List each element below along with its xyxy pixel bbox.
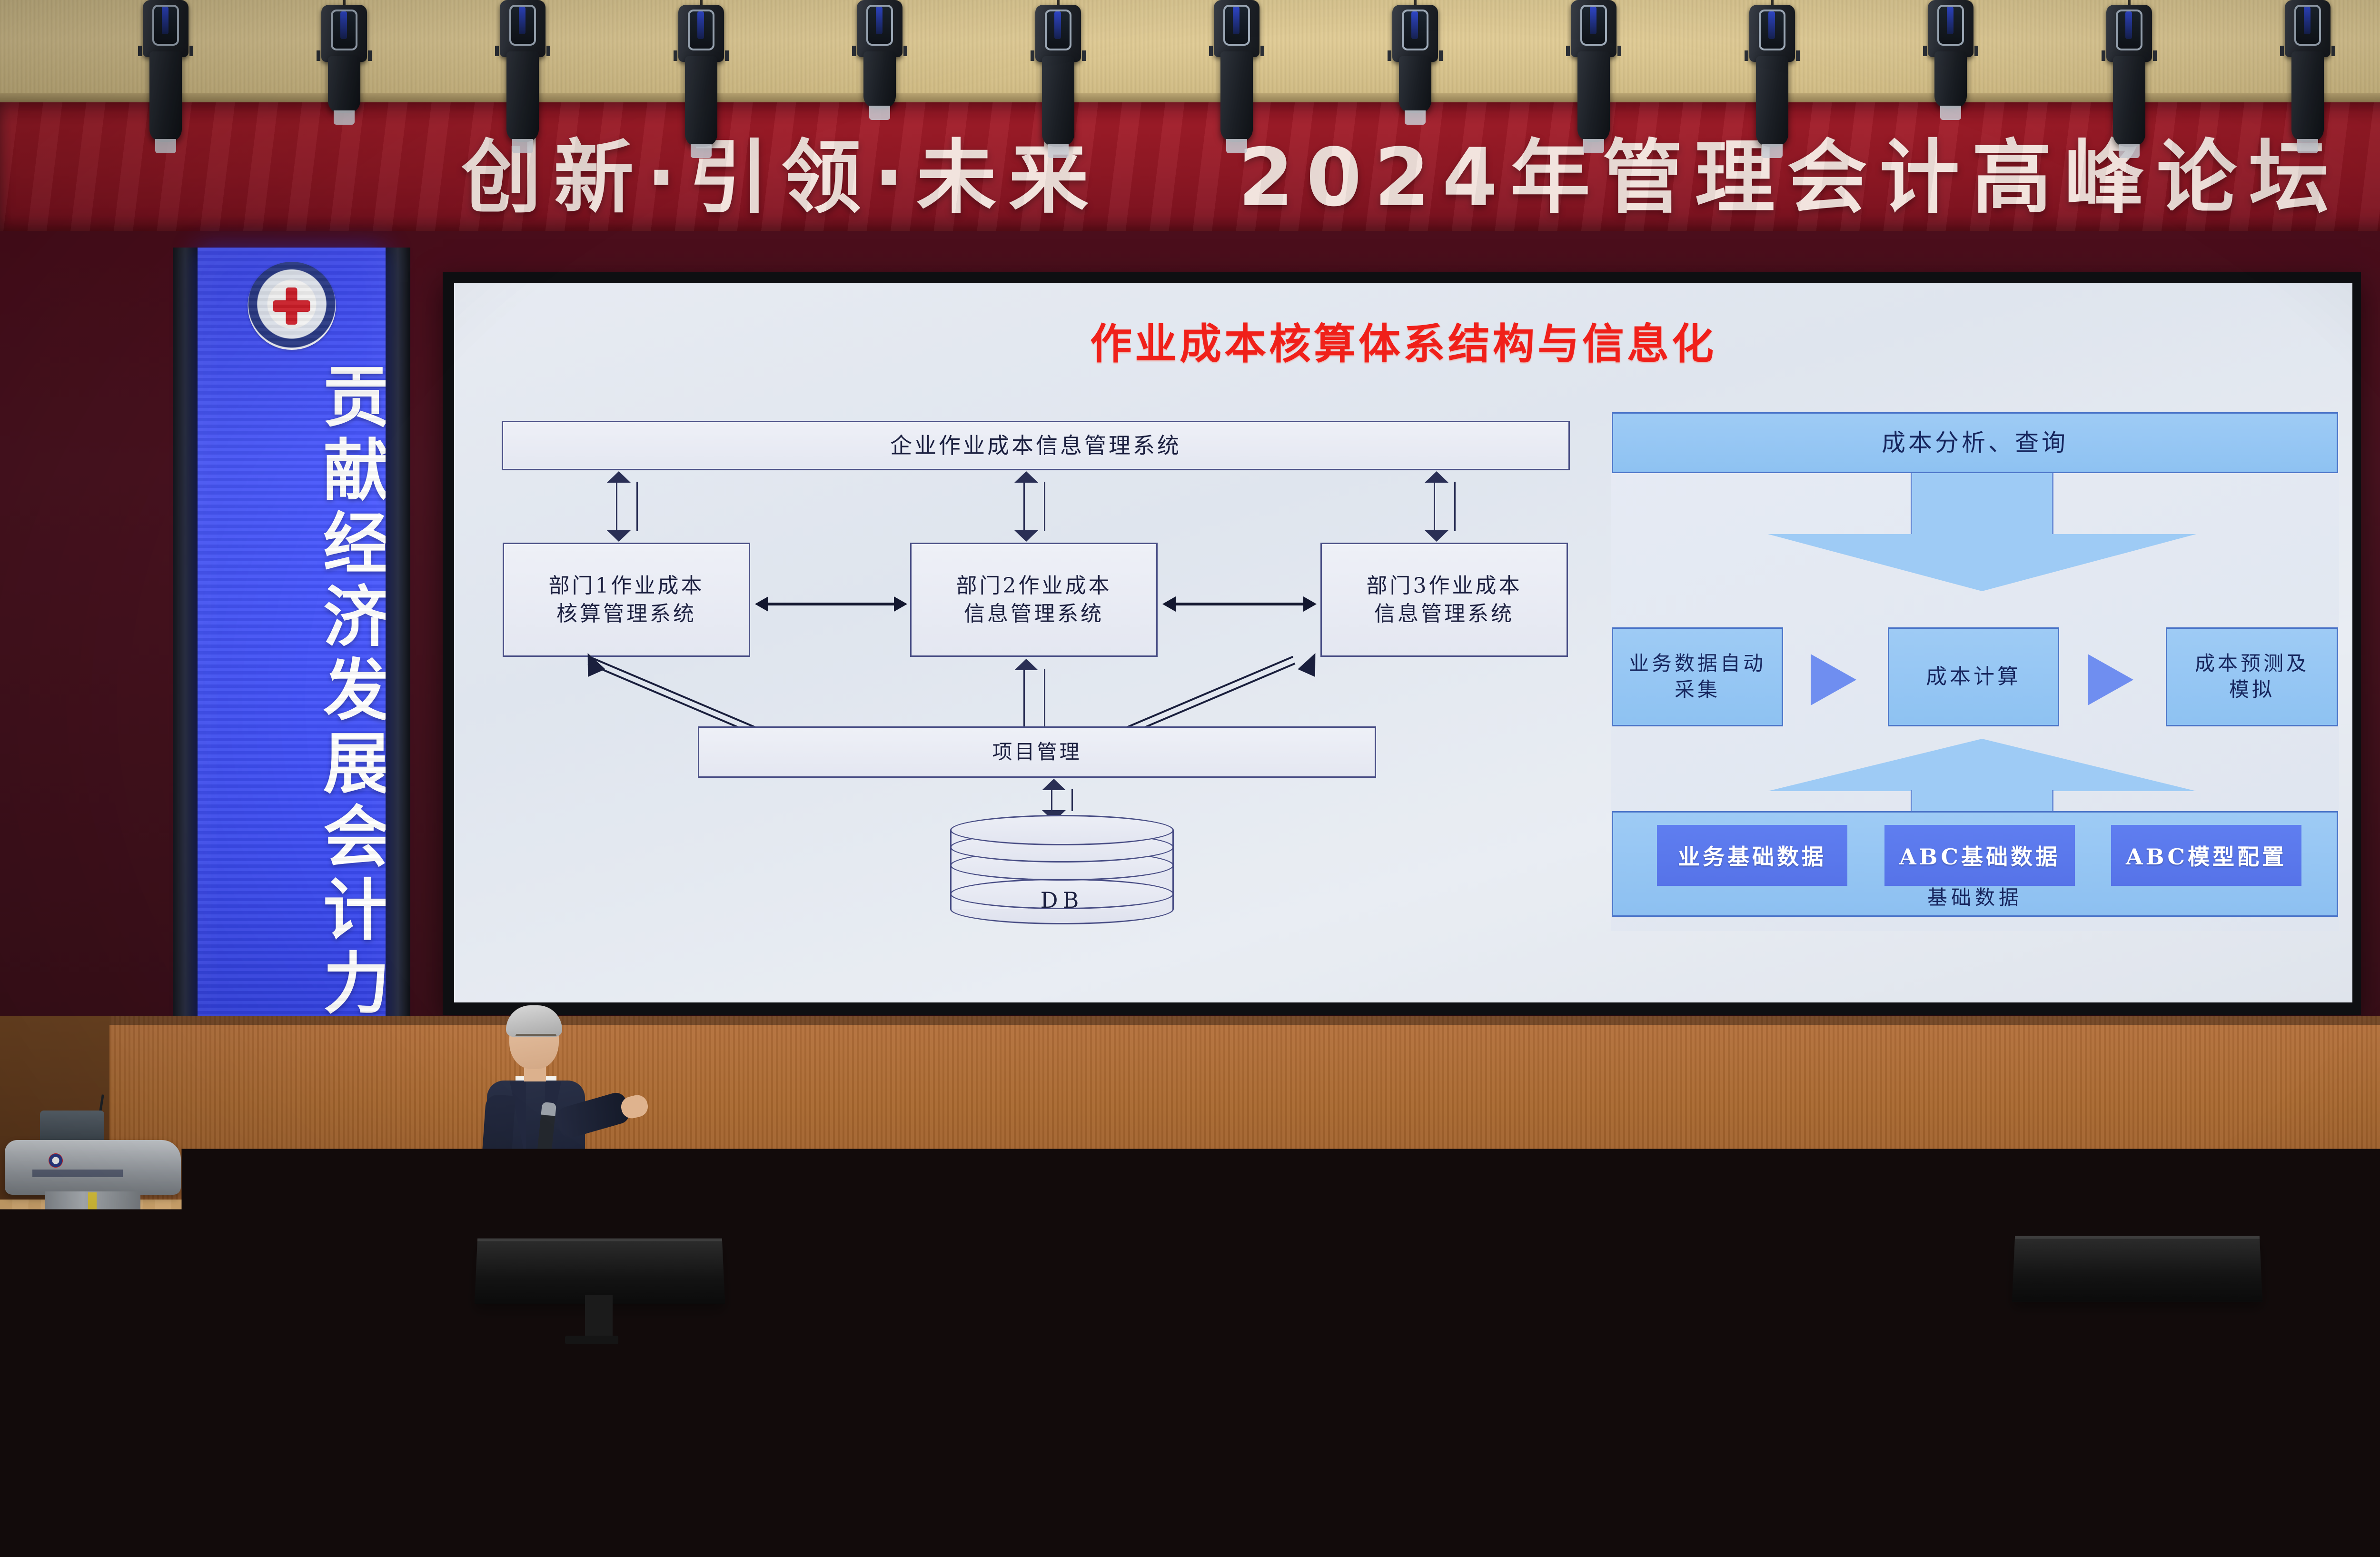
arrow-top-to-dept1 <box>616 482 638 531</box>
box-cost-analysis: 成本分析、查询 <box>1612 412 2338 473</box>
light-body <box>328 56 360 113</box>
node-dept1: 部门1作业成本 核算管理系统 <box>503 543 750 657</box>
node-dept2-label: 部门2作业成本 信息管理系统 <box>956 572 1112 628</box>
light-foot <box>155 139 176 153</box>
arrow-step1-to-step2 <box>1811 654 1856 705</box>
light-beam <box>340 11 347 39</box>
left-architecture-diagram: 企业作业成本信息管理系统 部门1作业成本 核算管理系统 部门2作业成本 信息管理… <box>498 421 1574 930</box>
monitor-legs <box>2102 1333 2156 1342</box>
banner-slogan: 创新·引领·未来 <box>461 131 1101 224</box>
emblem-cross-icon <box>273 288 310 325</box>
light-foot <box>2119 144 2140 158</box>
light-body <box>1042 56 1074 147</box>
monitor-mount <box>585 1295 613 1340</box>
floor-mat <box>80 1314 149 1342</box>
loudspeaker-icon <box>333 1304 433 1366</box>
light-beam <box>162 7 169 34</box>
stage-post-left-inner <box>386 248 410 1104</box>
db-top <box>950 815 1174 845</box>
banner-text-row: 创新·引领·未来 2024年管理会计高峰论坛 <box>0 113 2380 228</box>
box-cost-calculation: 成本计算 <box>1888 627 2059 726</box>
light-foot <box>869 106 890 120</box>
arrow-down-head <box>1768 534 2196 591</box>
light-foot <box>2297 139 2318 153</box>
arrow-pm-to-dept1-a <box>589 656 765 732</box>
audience-area <box>0 1399 2380 1557</box>
arrow-top-to-dept3 <box>1434 482 1456 531</box>
light-foot <box>1048 144 1069 158</box>
box-cost-calculation-label: 成本计算 <box>1926 663 2021 690</box>
light-body <box>1934 51 1967 109</box>
light-foot <box>1226 139 1247 153</box>
light-beam <box>2125 11 2132 39</box>
loudspeaker-icon <box>1695 1307 1790 1365</box>
left-banner-text: 贡献经济发展会计力量 <box>198 362 386 1095</box>
light-foot <box>1762 144 1783 158</box>
presenter-hair <box>506 1005 562 1037</box>
light-body <box>685 56 717 147</box>
light-beam <box>876 7 883 34</box>
light-beam <box>1768 11 1775 39</box>
light-foot <box>334 110 355 125</box>
slide-title: 作业成本核算体系结构与信息化 <box>454 310 2352 371</box>
arrow-pm-to-db <box>1051 789 1073 811</box>
light-body <box>863 51 896 109</box>
arrow-top-to-dept2 <box>1023 482 1045 531</box>
box-data-collection: 业务数据自动 采集 <box>1612 627 1783 726</box>
podium-icon <box>5 1097 181 1345</box>
podium-institution-name <box>32 1170 123 1177</box>
light-foot <box>512 139 533 153</box>
box-data-collection-label: 业务数据自动 采集 <box>1629 651 1766 703</box>
university-emblem-icon <box>248 262 336 350</box>
projection-screen: 作业成本核算体系结构与信息化 企业作业成本信息管理系统 部门1作业成本 核算管理… <box>454 283 2352 1002</box>
arrow-dept1-dept2 <box>767 603 895 605</box>
light-body <box>1577 51 1610 142</box>
light-beam <box>1590 7 1597 34</box>
base-item-business-data: 业务基础数据 <box>1657 825 1847 886</box>
main-event-banner: 创新·引领·未来 2024年管理会计高峰论坛 <box>0 102 2380 231</box>
left-vertical-banner: 贡献经济发展会计力量 <box>198 248 386 1104</box>
light-body <box>149 51 182 142</box>
podium-desk <box>5 1140 181 1195</box>
light-beam <box>1233 7 1240 34</box>
node-dept3: 部门3作业成本 信息管理系统 <box>1320 543 1568 657</box>
banner-event-title: 2024年管理会计高峰论坛 <box>1238 131 2341 224</box>
monitor-legs <box>565 1336 618 1344</box>
arrow-up-large <box>1768 739 2196 815</box>
node-project-management: 项目管理 <box>698 726 1376 778</box>
glasses-icon <box>516 1034 556 1042</box>
light-foot <box>1940 106 1961 120</box>
banner-spacer <box>1101 131 1238 224</box>
box-cost-forecast: 成本预测及 模拟 <box>2166 627 2338 726</box>
right-process-diagram: 成本分析、查询 业务数据自动 采集 成本计算 成本预测及 模拟 业务基础数据 A… <box>1611 412 2339 931</box>
node-dept2: 部门2作业成本 信息管理系统 <box>910 543 1158 657</box>
database-cylinder-icon: DB <box>950 815 1174 924</box>
light-beam <box>1947 7 1954 34</box>
arrow-down-shaft <box>1911 473 2053 535</box>
base-data-panel: 业务基础数据 ABC基础数据 ABC模型配置 基础数据 <box>1612 811 2338 917</box>
db-label: DB <box>950 887 1174 913</box>
box-cost-forecast-label: 成本预测及 模拟 <box>2195 651 2309 703</box>
node-enterprise-system: 企业作业成本信息管理系统 <box>502 421 1570 470</box>
light-body <box>506 51 539 142</box>
arrow-pm-to-dept3-a <box>1117 656 1293 732</box>
podium-emblem-icon <box>49 1153 63 1168</box>
light-foot <box>1405 110 1426 125</box>
arrow-step2-to-step3 <box>2088 654 2133 705</box>
podium-stripe <box>88 1192 97 1310</box>
light-body <box>1399 56 1431 113</box>
stage-post-left-outer <box>173 248 198 1104</box>
arrow-down-large <box>1768 473 2196 587</box>
node-dept3-label: 部门3作业成本 信息管理系统 <box>1367 572 1522 628</box>
light-foot <box>1583 139 1604 153</box>
light-body <box>2113 56 2145 147</box>
arrow-pm-to-dept2 <box>1023 669 1045 726</box>
projection-screen-frame: 作业成本核算体系结构与信息化 企业作业成本信息管理系统 部门1作业成本 核算管理… <box>443 272 2361 1015</box>
node-dept1-label: 部门1作业成本 核算管理系统 <box>549 572 704 628</box>
light-body <box>2291 51 2324 142</box>
loudspeaker-icon <box>1114 1299 1209 1357</box>
base-item-abc-model: ABC模型配置 <box>2111 825 2301 886</box>
light-beam <box>2304 7 2311 34</box>
light-beam <box>1054 11 1061 39</box>
light-foot <box>691 144 712 158</box>
light-beam <box>519 7 526 34</box>
light-beam <box>697 11 704 39</box>
light-beam <box>1411 11 1418 39</box>
base-data-label: 基础数据 <box>1613 882 2337 911</box>
light-body <box>1220 51 1253 142</box>
base-item-abc-data: ABC基础数据 <box>1884 825 2075 886</box>
conference-stage-photo: 创新·引领·未来 2024年管理会计高峰论坛 贡献经济发展会计力量 强化管理会计… <box>0 0 2380 1557</box>
monitor-mount <box>2122 1292 2150 1338</box>
light-body <box>1756 56 1788 147</box>
arrow-up-head <box>1768 739 2196 791</box>
stage-back-wood-wall <box>0 1016 2380 1216</box>
arrow-dept2-dept3 <box>1175 603 1304 605</box>
